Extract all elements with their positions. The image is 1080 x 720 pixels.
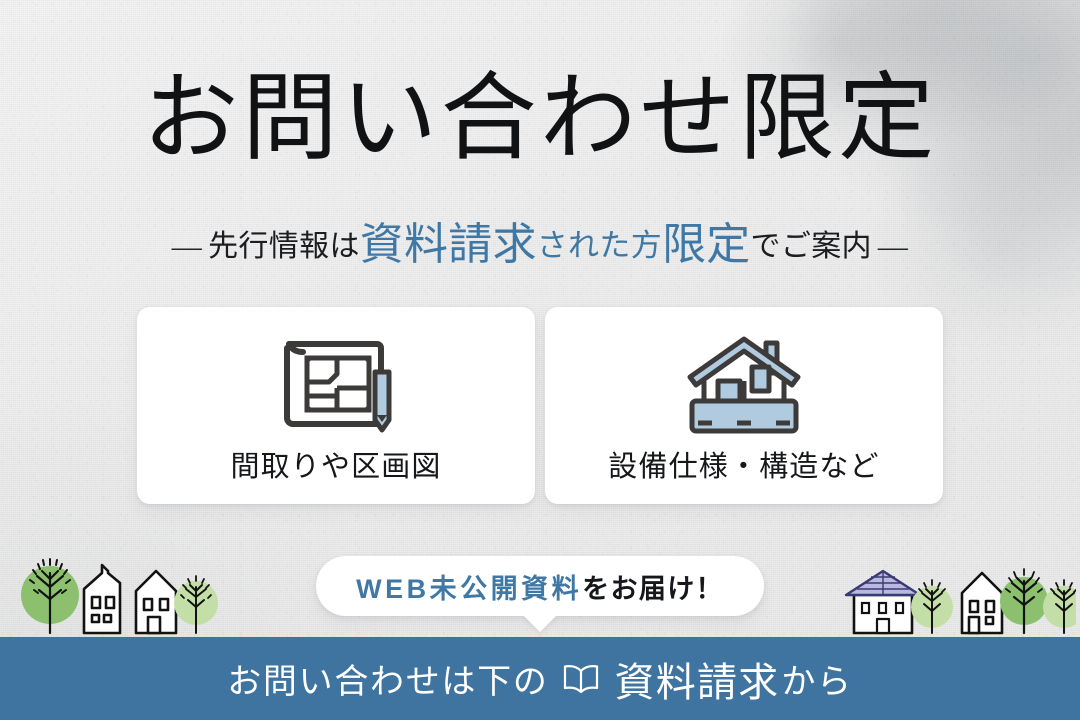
subtitle: —先行情報は資料請求された方限定でご案内—	[0, 219, 1080, 272]
subtitle-highlight-1: 資料請求	[360, 220, 537, 269]
subtitle-tail: でご案内	[751, 230, 872, 263]
feature-card-label: 設備仕様・構造など	[608, 443, 879, 485]
subtitle-highlight-2: 限定	[662, 220, 750, 269]
cta-tail: から	[781, 654, 852, 703]
delivery-callout: WEB未公開資料をお届け！	[0, 556, 1080, 632]
cta-bar-text: お問い合わせは下の 資料請求から	[227, 650, 853, 708]
subtitle-dash-right: —	[872, 230, 914, 263]
subtitle-dash-left: —	[166, 230, 208, 263]
delivery-pill-plain: をお届け！	[582, 567, 724, 606]
feature-card-floor-plan[interactable]: 間取りや区画図	[137, 307, 535, 504]
delivery-pill-pointer	[523, 615, 557, 632]
promo-banner: お問い合わせ限定 —先行情報は資料請求された方限定でご案内—	[0, 0, 1080, 720]
feature-card-specs[interactable]: 設備仕様・構造など	[545, 307, 943, 504]
feature-card-label: 間取りや区画図	[230, 443, 441, 485]
cta-emphasis: 資料請求	[615, 650, 780, 708]
floor-plan-icon	[277, 331, 395, 437]
subtitle-mid: された方	[537, 228, 662, 263]
subtitle-lead: 先行情報は	[208, 230, 360, 263]
page-title: お問い合わせ限定	[0, 62, 1080, 175]
delivery-pill[interactable]: WEB未公開資料をお届け！	[316, 556, 764, 616]
cta-bar[interactable]: お問い合わせは下の 資料請求から	[0, 637, 1080, 720]
pencil-icon	[375, 372, 389, 430]
house-structure-icon	[682, 331, 806, 437]
cta-lead: お問い合わせは下の	[227, 654, 548, 703]
feature-card-list: 間取りや区画図	[137, 307, 943, 504]
open-book-icon	[561, 662, 601, 696]
delivery-pill-accent: WEB未公開資料	[356, 567, 582, 606]
